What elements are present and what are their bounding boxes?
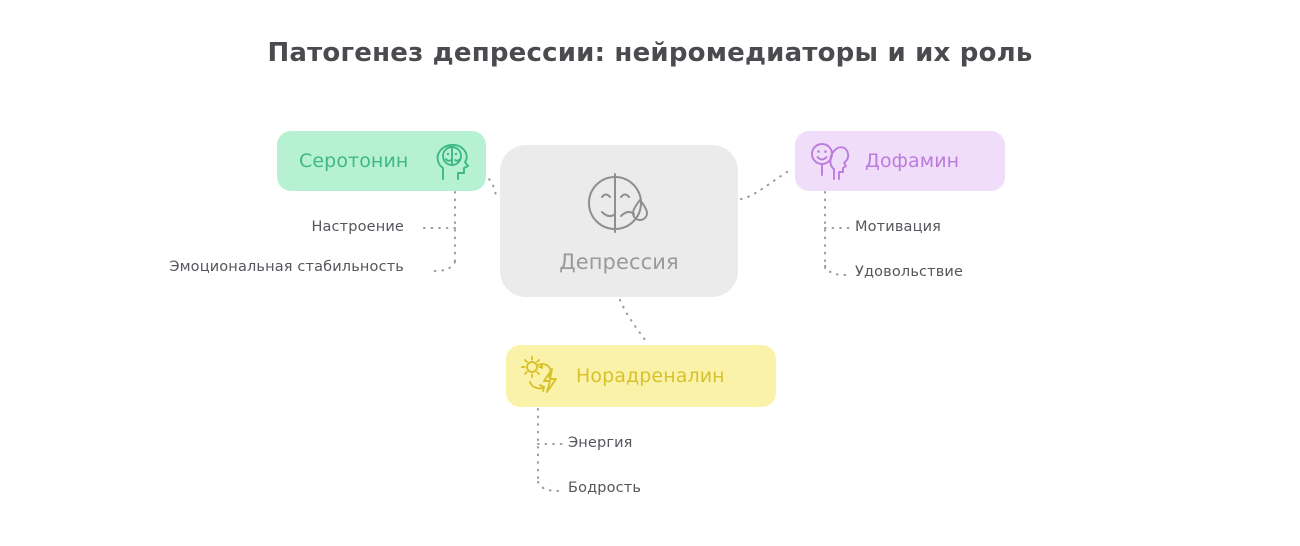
node-depression-label: Депрессия bbox=[559, 250, 679, 274]
connector-noradrenaline-to-vigor bbox=[538, 482, 561, 491]
half-smile-half-sad-face-with-tear-icon bbox=[582, 168, 656, 238]
page-title: Патогенез депрессии: нейромедиаторы и их… bbox=[0, 38, 1300, 68]
connector-central-to-dopamine bbox=[741, 169, 792, 199]
node-dopamine[interactable]: Дофамин bbox=[795, 131, 1005, 191]
node-serotonin-label: Серотонин bbox=[299, 150, 408, 172]
head-profile-with-smiley-face-icon bbox=[809, 141, 851, 181]
sub-label-noradrenaline-energy: Энергия bbox=[568, 435, 633, 451]
connector-central-to-noradrenaline bbox=[620, 300, 648, 344]
sun-with-lightning-bolt-energy-icon bbox=[520, 355, 564, 397]
node-dopamine-label: Дофамин bbox=[865, 150, 959, 172]
head-profile-with-split-face-icon bbox=[434, 141, 472, 181]
sub-label-dopamine-pleasure: Удовольствие bbox=[855, 264, 963, 280]
node-serotonin[interactable]: Серотонин bbox=[277, 131, 486, 191]
diagram-canvas: Патогенез депрессии: нейромедиаторы и их… bbox=[0, 0, 1300, 546]
connector-serotonin-to-stability bbox=[433, 262, 455, 271]
sub-label-dopamine-motivation: Мотивация bbox=[855, 219, 941, 235]
sub-label-serotonin-mood: Настроение bbox=[311, 219, 404, 235]
node-noradrenaline[interactable]: Норадреналин bbox=[506, 345, 776, 407]
sub-label-serotonin-stability: Эмоциональная стабильность bbox=[169, 259, 404, 275]
node-noradrenaline-label: Норадреналин bbox=[576, 365, 725, 387]
sub-label-noradrenaline-vigor: Бодрость bbox=[568, 480, 641, 496]
connector-dopamine-to-pleasure bbox=[825, 266, 848, 275]
node-depression[interactable]: Депрессия bbox=[500, 145, 738, 297]
